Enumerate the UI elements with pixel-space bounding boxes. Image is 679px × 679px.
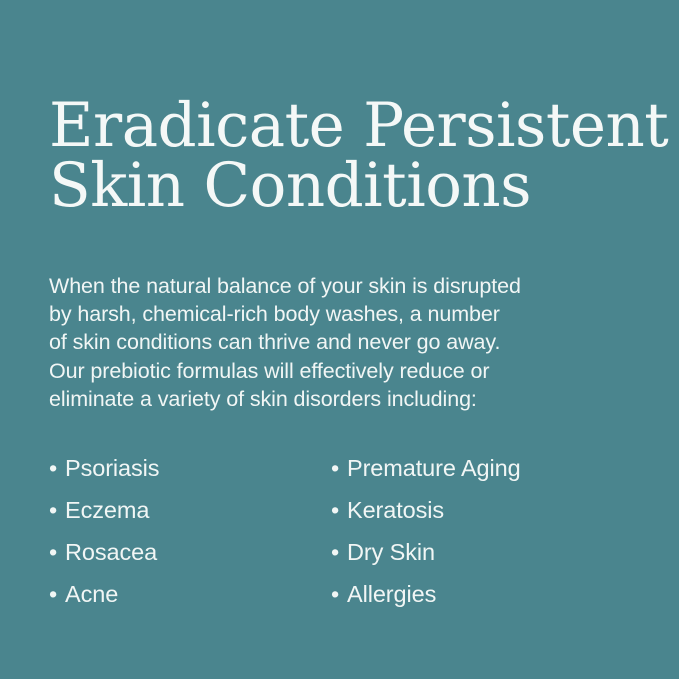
list-item-label: Rosacea	[65, 531, 157, 573]
list-item: • Eczema	[49, 489, 159, 531]
intro-paragraph-line-1: When the natural balance of your skin is…	[49, 272, 609, 300]
list-item: • Psoriasis	[49, 447, 159, 489]
skin-conditions-infographic-card: Eradicate Persistent Skin Conditions Whe…	[0, 0, 679, 679]
list-item-label: Premature Aging	[347, 447, 521, 489]
bullet-icon: •	[49, 531, 65, 573]
list-item-label: Dry Skin	[347, 531, 435, 573]
page-title: Eradicate Persistent Skin Conditions	[49, 96, 649, 216]
bullet-icon: •	[331, 531, 347, 573]
intro-paragraph-line-2: by harsh, chemical-rich body washes, a n…	[49, 300, 609, 328]
intro-paragraph-line-5: eliminate a variety of skin disorders in…	[49, 385, 609, 413]
bullet-icon: •	[331, 573, 347, 615]
bullet-icon: •	[49, 573, 65, 615]
list-item: • Keratosis	[331, 489, 521, 531]
list-item-label: Allergies	[347, 573, 436, 615]
list-item: • Premature Aging	[331, 447, 521, 489]
bullet-icon: •	[331, 447, 347, 489]
bullet-icon: •	[49, 447, 65, 489]
page-title-line-2: Skin Conditions	[49, 156, 649, 216]
list-item-label: Eczema	[65, 489, 149, 531]
intro-paragraph: When the natural balance of your skin is…	[49, 272, 609, 413]
skin-disorders-list: • Psoriasis • Eczema • Rosacea • Acne • …	[0, 447, 679, 627]
list-item: • Allergies	[331, 573, 521, 615]
intro-paragraph-line-3: of skin conditions can thrive and never …	[49, 328, 609, 356]
list-item-label: Acne	[65, 573, 118, 615]
skin-disorders-left-column: • Psoriasis • Eczema • Rosacea • Acne	[49, 447, 159, 615]
bullet-icon: •	[49, 489, 65, 531]
list-item: • Dry Skin	[331, 531, 521, 573]
list-item: • Acne	[49, 573, 159, 615]
intro-paragraph-line-4: Our prebiotic formulas will effectively …	[49, 357, 609, 385]
list-item: • Rosacea	[49, 531, 159, 573]
skin-disorders-right-column: • Premature Aging • Keratosis • Dry Skin…	[331, 447, 521, 615]
page-title-line-1: Eradicate Persistent	[49, 96, 649, 156]
list-item-label: Keratosis	[347, 489, 444, 531]
bullet-icon: •	[331, 489, 347, 531]
list-item-label: Psoriasis	[65, 447, 159, 489]
